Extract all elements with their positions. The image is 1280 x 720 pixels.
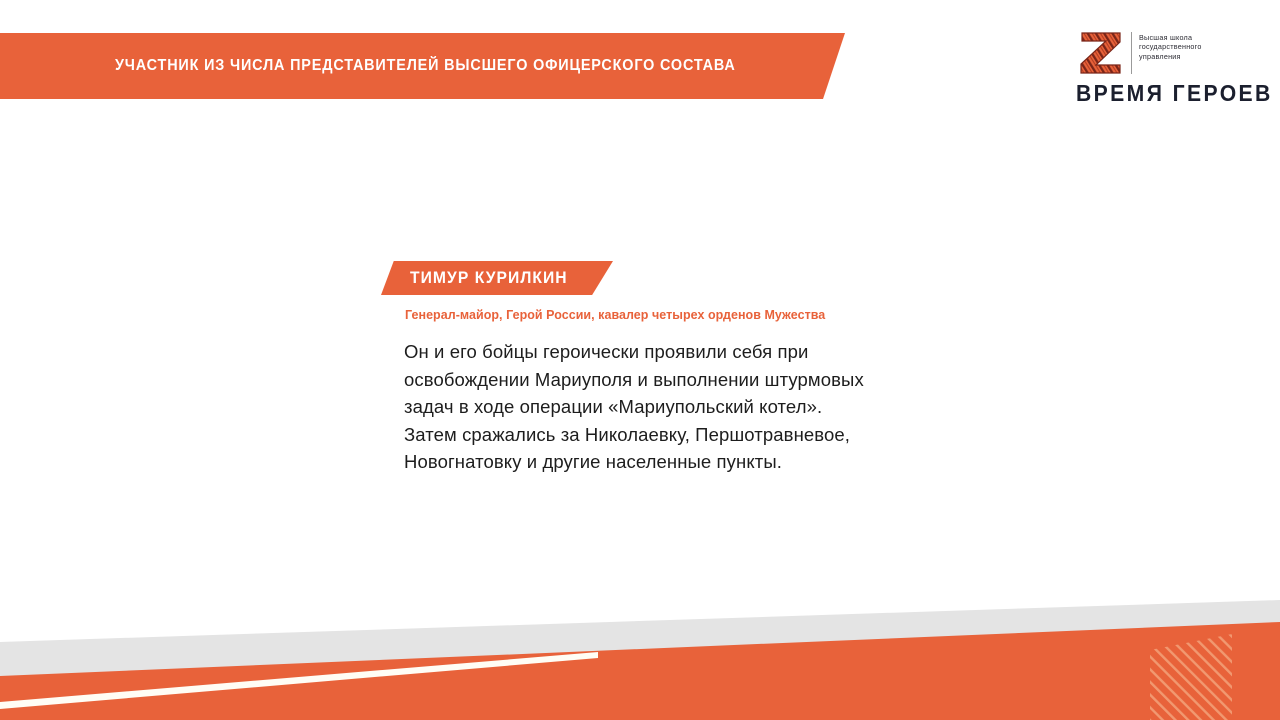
- profile-rank: Генерал-майор, Герой России, кавалер чет…: [405, 307, 825, 322]
- description-line: Затем сражались за Николаевку, Першотрав…: [404, 421, 924, 449]
- slide-canvas: УЧАСТНИК ИЗ ЧИСЛА ПРЕДСТАВИТЕЛЕЙ ВЫСШЕГО…: [0, 0, 1280, 720]
- logo-block: Высшая школа государственного управления…: [1076, 30, 1228, 108]
- logo-subtitle-line-1: Высшая школа: [1139, 33, 1202, 42]
- logo-subtitle-line-3: управления: [1139, 52, 1202, 61]
- profile-name: ТИМУР КУРИЛКИН: [410, 269, 568, 288]
- header-banner-title: УЧАСТНИК ИЗ ЧИСЛА ПРЕДСТАВИТЕЛЕЙ ВЫСШЕГО…: [115, 57, 736, 75]
- logo-subtitle: Высшая школа государственного управления: [1139, 30, 1202, 61]
- profile-description: Он и его бойцы героически проявили себя …: [404, 338, 924, 476]
- z-ribbon-icon: [1076, 30, 1126, 76]
- logo-subtitle-line-2: государственного: [1139, 42, 1202, 51]
- name-banner: ТИМУР КУРИЛКИН: [381, 261, 613, 295]
- description-line: задач в ходе операции «Мариупольский кот…: [404, 393, 924, 421]
- logo-wordmark: ВРЕМЯ ГЕРОЕВ: [1076, 80, 1216, 107]
- bottom-decoration: [0, 590, 1280, 720]
- description-line: Он и его бойцы героически проявили себя …: [404, 338, 924, 366]
- vertical-divider-icon: [1131, 32, 1132, 74]
- bottom-decoration-svg: [0, 590, 1280, 720]
- description-line: освобождении Мариуполя и выполнении штур…: [404, 366, 924, 394]
- description-line: Новогнатовку и другие населенные пункты.: [404, 448, 924, 476]
- header-banner: УЧАСТНИК ИЗ ЧИСЛА ПРЕДСТАВИТЕЛЕЙ ВЫСШЕГО…: [0, 33, 845, 99]
- logo-top-row: Высшая школа государственного управления: [1076, 30, 1228, 78]
